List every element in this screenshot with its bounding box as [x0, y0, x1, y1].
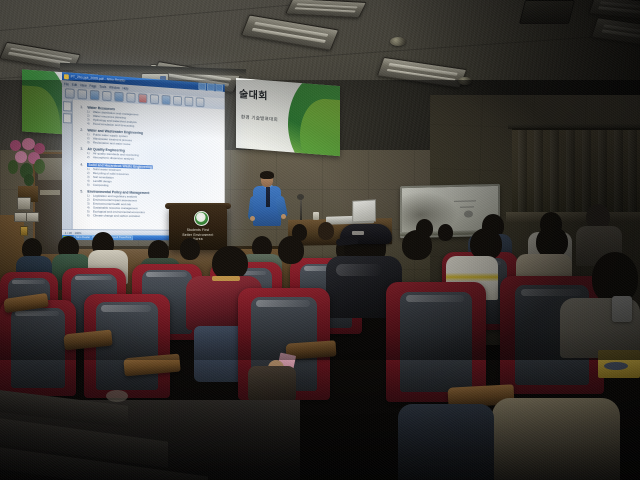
item-on-box	[604, 362, 628, 370]
pdf-document-icon	[64, 74, 69, 79]
audience-jeans	[398, 404, 494, 480]
shoe	[106, 390, 128, 402]
conference-hall-photo: 2 일시 술대회 환경 기술발표대회 PT_2ho.ppt_2009.pdf -…	[0, 0, 640, 480]
room-shadow	[0, 80, 640, 360]
audience-trousers	[492, 398, 620, 480]
backpack	[248, 366, 296, 404]
